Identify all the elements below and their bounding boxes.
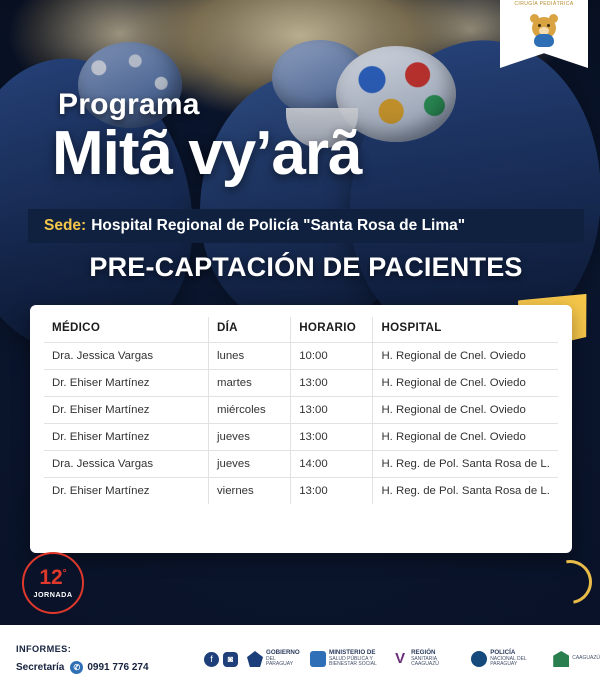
jornada-badge: 12° JORNADA bbox=[22, 552, 84, 614]
jornada-label: JORNADA bbox=[33, 590, 72, 599]
phone-number[interactable]: ✆ 0991 776 274 bbox=[70, 661, 148, 674]
poster: CIRUGÍA PEDIÁTRICA Programa Mitã vy’arã … bbox=[0, 0, 600, 693]
ministerio-subtitle: SALUD PÚBLICA Y BIENESTAR SOCIAL bbox=[329, 657, 383, 668]
cell-medico: Dr. Ehiser Martínez bbox=[44, 424, 208, 451]
venue-label: Sede: bbox=[44, 217, 86, 235]
cell-horario: 13:00 bbox=[291, 478, 373, 505]
cell-hospital: H. Reg. de Pol. Santa Rosa de L. bbox=[373, 451, 558, 478]
caaguazu-subtitle: CAAGUAZÚ bbox=[572, 656, 600, 662]
cell-horario: 13:00 bbox=[291, 370, 373, 397]
secretaria-label: Secretaría bbox=[16, 662, 64, 673]
table-row: Dr. Ehiser Martínez viernes 13:00 H. Reg… bbox=[44, 478, 558, 505]
gobierno-subtitle: DEL PARAGUAY bbox=[266, 657, 301, 668]
region-sanitaria-caaguazu-logo: V REGIÓN SANITARIA CAAGUAZÚ bbox=[392, 650, 462, 668]
gobierno-del-paraguay-logo: GOBIERNO DEL PARAGUAY bbox=[247, 650, 301, 668]
page-title: PRE-CAPTACIÓN DE PACIENTES bbox=[28, 252, 584, 283]
venue-value: Hospital Regional de Policía "Santa Rosa… bbox=[91, 217, 465, 235]
gobierno-mark-icon bbox=[247, 651, 263, 667]
cell-dia: viernes bbox=[208, 478, 290, 505]
phone-text: 0991 776 274 bbox=[87, 662, 148, 673]
policia-mark-icon bbox=[471, 651, 487, 667]
cell-medico: Dr. Ehiser Martínez bbox=[44, 370, 208, 397]
cell-medico: Dra. Jessica Vargas bbox=[44, 451, 208, 478]
instagram-icon[interactable]: ◙ bbox=[223, 652, 238, 667]
contact-row: Secretaría ✆ 0991 776 274 bbox=[16, 661, 200, 674]
region-subtitle: SANITARIA CAAGUAZÚ bbox=[411, 657, 462, 668]
social-links[interactable]: f ◙ bbox=[204, 652, 238, 667]
cell-hospital: H. Regional de Cnel. Oviedo bbox=[373, 370, 558, 397]
cell-hospital: H. Regional de Cnel. Oviedo bbox=[373, 424, 558, 451]
cell-medico: Dr. Ehiser Martínez bbox=[44, 397, 208, 424]
cell-medico: Dr. Ehiser Martínez bbox=[44, 478, 208, 505]
program-label: Programa bbox=[58, 88, 200, 122]
column-header-dia: DÍA bbox=[208, 317, 290, 343]
cell-dia: jueves bbox=[208, 451, 290, 478]
cell-hospital: H. Regional de Cnel. Oviedo bbox=[373, 397, 558, 424]
jornada-number: 12° bbox=[39, 567, 66, 588]
gobernacion-caaguazu-logo: CAAGUAZÚ bbox=[553, 651, 600, 667]
column-header-medico: MÉDICO bbox=[44, 317, 208, 343]
column-header-hospital: HOSPITAL bbox=[373, 317, 558, 343]
cell-dia: jueves bbox=[208, 424, 290, 451]
table-row: Dra. Jessica Vargas lunes 10:00 H. Regio… bbox=[44, 343, 558, 370]
footer-sponsors: f ◙ GOBIERNO DEL PARAGUAY MINISTERIO DE … bbox=[200, 650, 600, 668]
pediatric-surgery-badge: CIRUGÍA PEDIÁTRICA bbox=[500, 0, 588, 64]
cell-hospital: H. Reg. de Pol. Santa Rosa de L. bbox=[373, 478, 558, 505]
table-row: Dr. Ehiser Martínez miércoles 13:00 H. R… bbox=[44, 397, 558, 424]
facebook-icon[interactable]: f bbox=[204, 652, 219, 667]
cell-horario: 14:00 bbox=[291, 451, 373, 478]
cell-dia: lunes bbox=[208, 343, 290, 370]
phone-icon: ✆ bbox=[70, 661, 83, 674]
table-row: Dr. Ehiser Martínez martes 13:00 H. Regi… bbox=[44, 370, 558, 397]
venue-bar: Sede: Hospital Regional de Policía "Sant… bbox=[28, 209, 584, 243]
table-header-row: MÉDICO DÍA HORARIO HOSPITAL bbox=[44, 317, 558, 343]
caaguazu-mark-icon bbox=[553, 651, 569, 667]
table-row: Dr. Ehiser Martínez jueves 13:00 H. Regi… bbox=[44, 424, 558, 451]
region-mark-icon: V bbox=[392, 651, 408, 667]
cell-hospital: H. Regional de Cnel. Oviedo bbox=[373, 343, 558, 370]
cell-horario: 10:00 bbox=[291, 343, 373, 370]
cell-horario: 13:00 bbox=[291, 397, 373, 424]
teddy-bear-icon bbox=[527, 13, 561, 49]
footer-contact: INFORMES: Secretaría ✆ 0991 776 274 bbox=[0, 644, 200, 674]
column-header-horario: HORARIO bbox=[291, 317, 373, 343]
program-title: Mitã vy’arã bbox=[52, 118, 362, 189]
badge-circle: CIRUGÍA PEDIÁTRICA bbox=[514, 1, 574, 61]
policia-subtitle: NACIONAL DEL PARAGUAY bbox=[490, 657, 544, 668]
cell-dia: martes bbox=[208, 370, 290, 397]
ministerio-salud-publica-logo: MINISTERIO DE SALUD PÚBLICA Y BIENESTAR … bbox=[310, 650, 383, 668]
cell-medico: Dra. Jessica Vargas bbox=[44, 343, 208, 370]
informes-label: INFORMES: bbox=[16, 644, 200, 654]
table-row: Dra. Jessica Vargas jueves 14:00 H. Reg.… bbox=[44, 451, 558, 478]
schedule-card: MÉDICO DÍA HORARIO HOSPITAL Dra. Jessica… bbox=[30, 305, 572, 553]
footer: INFORMES: Secretaría ✆ 0991 776 274 f ◙ … bbox=[0, 625, 600, 693]
schedule-table: MÉDICO DÍA HORARIO HOSPITAL Dra. Jessica… bbox=[44, 317, 558, 504]
ministerio-mark-icon bbox=[310, 651, 326, 667]
cell-dia: miércoles bbox=[208, 397, 290, 424]
cell-horario: 13:00 bbox=[291, 424, 373, 451]
policia-nacional-logo: POLICÍA NACIONAL DEL PARAGUAY bbox=[471, 650, 544, 668]
